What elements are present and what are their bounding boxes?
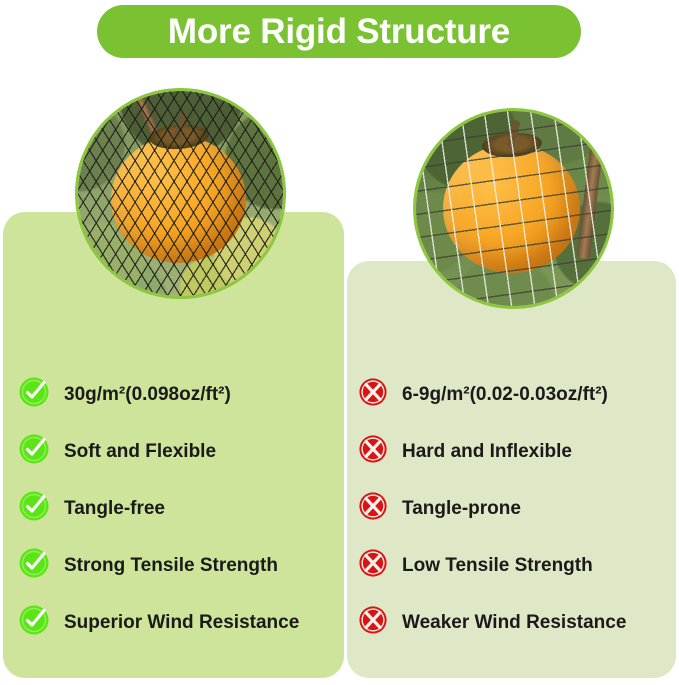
list-item: Superior Wind Resistance [18,594,340,651]
feature-label: Weaker Wind Resistance [402,613,626,632]
check-circle-icon [18,376,50,413]
feature-label: Tangle-free [64,499,165,518]
list-item: Tangle-prone [358,480,674,537]
list-item: Low Tensile Strength [358,537,674,594]
photo-right-inner [416,111,611,306]
fine-dark-netting-overlay [78,91,283,296]
list-item: Weaker Wind Resistance [358,594,674,651]
good-feature-list: 30g/m²(0.098oz/ft²) Soft and Flexible Ta… [18,366,340,651]
check-circle-icon [18,433,50,470]
list-item: Soft and Flexible [18,423,340,480]
x-circle-icon [358,548,388,583]
feature-label: Tangle-prone [402,499,521,518]
feature-label: Superior Wind Resistance [64,613,299,632]
x-circle-icon [358,605,388,640]
feature-label: Soft and Flexible [64,442,216,461]
check-circle-icon [18,547,50,584]
feature-label: Low Tensile Strength [402,556,593,575]
persimmon-coarse-netting-image [413,108,614,309]
feature-label: 30g/m²(0.098oz/ft²) [64,385,231,404]
list-item: Hard and Inflexible [358,423,674,480]
persimmon-fine-netting-image [75,88,286,299]
feature-label: Hard and Inflexible [402,442,572,461]
page-title: More Rigid Structure [168,14,510,49]
list-item: 30g/m²(0.098oz/ft²) [18,366,340,423]
page-title-banner: More Rigid Structure [97,5,581,58]
photo-left-inner [78,91,283,296]
feature-label: 6-9g/m²(0.02-0.03oz/ft²) [402,385,608,404]
feature-label: Strong Tensile Strength [64,556,278,575]
check-circle-icon [18,490,50,527]
check-circle-icon [18,604,50,641]
bad-feature-list: 6-9g/m²(0.02-0.03oz/ft²) Hard and Inflex… [358,366,674,651]
list-item: Strong Tensile Strength [18,537,340,594]
list-item: 6-9g/m²(0.02-0.03oz/ft²) [358,366,674,423]
x-circle-icon [358,434,388,469]
x-circle-icon [358,491,388,526]
x-circle-icon [358,377,388,412]
coarse-light-netting-overlay [416,111,611,306]
list-item: Tangle-free [18,480,340,537]
